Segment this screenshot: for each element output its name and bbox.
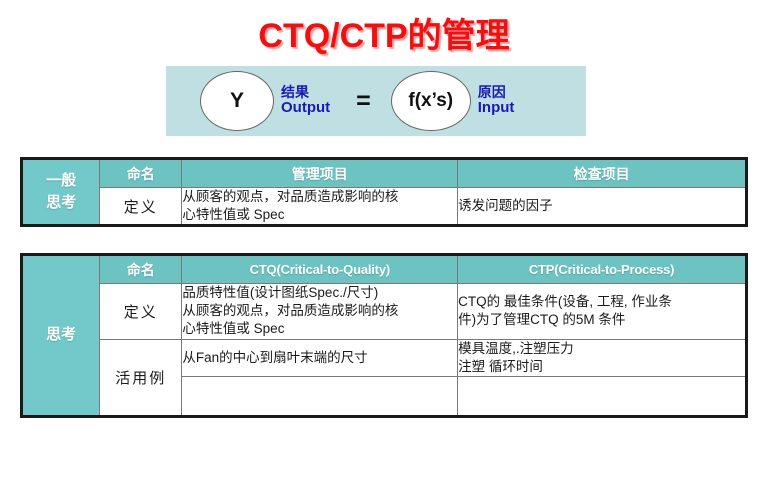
text-line: CTQ的 最佳条件(设备, 工程, 作业条: [458, 293, 745, 311]
text-line: 从顾客的观点，对品质造成影响的核: [182, 188, 457, 206]
cell-ctp-blank: [458, 377, 747, 417]
output-label-en: Output: [281, 100, 330, 117]
header-ctq: CTQ(Critical-to-Quality): [182, 255, 458, 284]
input-label-cn: 原因: [478, 85, 515, 101]
output-node-ellipse: Y: [200, 71, 274, 131]
ctq-ctp-table: 思考 命名 CTQ(Critical-to-Quality) CTP(Criti…: [20, 253, 748, 418]
table-row: 定义 品质特性值(设计图纸Spec./尺寸) 从顾客的观点，对品质造成影响的核 …: [22, 284, 747, 340]
page-title: CTQ/CTP的管理: [0, 8, 768, 57]
text-line: 心特性值或 Spec: [182, 320, 457, 338]
header-name-thinking: 命名: [100, 255, 182, 284]
header-right-general: 检查项目: [458, 159, 747, 188]
row-label-definition-general: 定义: [100, 188, 182, 226]
table-row: 一般 思考 命名 管理项目 检查项目: [22, 159, 747, 188]
input-node-ellipse: f(x’s): [391, 71, 471, 131]
cell-ctq-blank: [182, 377, 458, 417]
text-line: 品质特性值(设计图纸Spec./尺寸): [182, 284, 457, 302]
group-label-thinking: 思考: [22, 255, 100, 417]
text-line: 件)为了管理CTQ 的5M 条件: [458, 311, 745, 329]
text-line: 从顾客的观点，对品质造成影响的核: [182, 302, 457, 320]
cell-ctp-example: 模具温度,.注塑压力 注塑 循环时间: [458, 339, 747, 376]
group-label-general: 一般 思考: [22, 159, 100, 226]
cell-ctp-definition: CTQ的 最佳条件(设备, 工程, 作业条 件)为了管理CTQ 的5M 条件: [458, 284, 747, 340]
cell-ctq-example: 从Fan的中心到扇叶末端的尺寸: [182, 339, 458, 376]
header-ctp: CTP(Critical-to-Process): [458, 255, 747, 284]
text-line: 模具温度,.注塑压力: [458, 340, 745, 358]
formula-banner: Y 结果 Output = f(x’s) 原因 Input: [166, 66, 586, 136]
output-label: 结果 Output: [281, 85, 330, 117]
text-line: 诱发问题的因子: [458, 197, 745, 215]
table-row: 思考 命名 CTQ(Critical-to-Quality) CTP(Criti…: [22, 255, 747, 284]
input-label-en: Input: [478, 100, 515, 117]
text-line: 注塑 循环时间: [458, 358, 745, 376]
text-line: 心特性值或 Spec: [182, 206, 457, 224]
row-label-definition-thinking: 定义: [100, 284, 182, 340]
row-label-example: 活用例: [100, 339, 182, 416]
equals-sign: =: [356, 87, 371, 116]
header-name-general: 命名: [100, 159, 182, 188]
general-thinking-table: 一般 思考 命名 管理项目 检查项目 定义 从顾客的观点，对品质造成影响的核 心…: [20, 157, 748, 227]
cell-management-item-general: 从顾客的观点，对品质造成影响的核 心特性值或 Spec: [182, 188, 458, 226]
text-line: 从Fan的中心到扇叶末端的尺寸: [182, 349, 457, 367]
table-row: 活用例 从Fan的中心到扇叶末端的尺寸 模具温度,.注塑压力 注塑 循环时间: [22, 339, 747, 376]
output-label-cn: 结果: [281, 85, 330, 101]
input-label: 原因 Input: [478, 85, 515, 117]
group-label-general-line1: 一般: [23, 170, 99, 193]
header-middle-general: 管理项目: [182, 159, 458, 188]
group-label-general-line2: 思考: [23, 192, 99, 215]
table-row: 定义 从顾客的观点，对品质造成影响的核 心特性值或 Spec 诱发问题的因子: [22, 188, 747, 226]
cell-ctq-definition: 品质特性值(设计图纸Spec./尺寸) 从顾客的观点，对品质造成影响的核 心特性…: [182, 284, 458, 340]
cell-inspection-item-general: 诱发问题的因子: [458, 188, 747, 226]
